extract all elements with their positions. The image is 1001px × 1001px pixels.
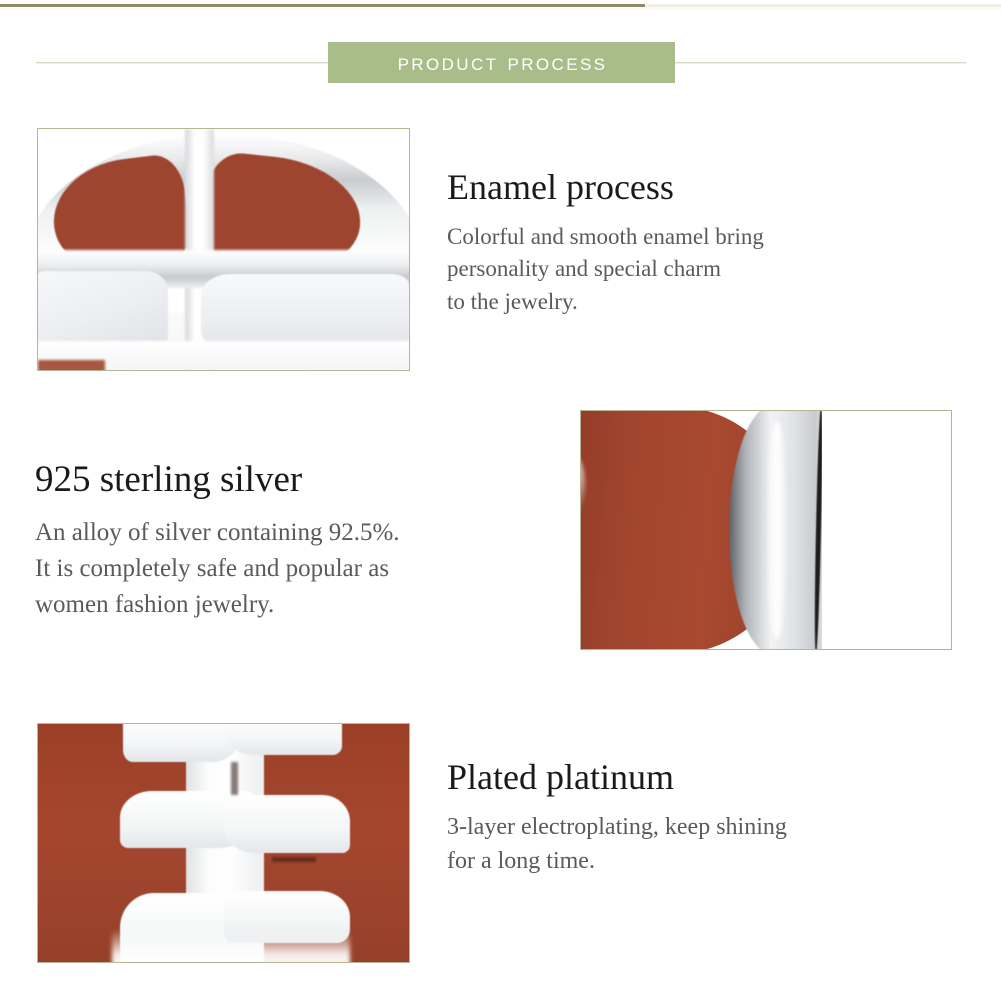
sterling-silver-text: 925 sterling silver An alloy of silver c… [35, 460, 400, 623]
platinum-arm-middle-right [224, 795, 350, 852]
sterling-silver-body-line-1: An alloy of silver containing 92.5%. [35, 515, 400, 551]
top-rule-faint [0, 7, 1001, 9]
sterling-silver-image [580, 410, 952, 650]
plated-platinum-text: Plated platinum 3-layer electroplating, … [447, 758, 787, 879]
banner-title: Product process [396, 51, 608, 75]
sterling-silver-body-line-3: women fashion jewelry. [35, 587, 400, 623]
plated-platinum-image [37, 723, 410, 963]
platinum-arm-upper-right [224, 723, 343, 755]
silver-photo-canvas [581, 411, 951, 649]
sterling-silver-body-line-2: It is completely safe and popular as [35, 551, 400, 587]
plated-platinum-body-line-2: for a long time. [447, 844, 787, 879]
banner-chip: Product process [328, 42, 675, 83]
plated-platinum-body-line-1: 3-layer electroplating, keep shining [447, 810, 787, 845]
white-backdrop [822, 411, 952, 649]
white-pad-left [37, 271, 168, 348]
plated-platinum-heading: Plated platinum [447, 758, 787, 798]
bottom-rule [37, 962, 410, 963]
platinum-photo-canvas [38, 724, 409, 962]
sterling-silver-heading: 925 sterling silver [35, 460, 400, 501]
enamel-process-heading: Enamel process [447, 168, 764, 208]
platinum-shadow-lower [272, 857, 317, 862]
enamel-photo-canvas [38, 129, 409, 370]
section-banner: Product process [0, 42, 1001, 84]
enamel-process-body-line-1: Colorful and smooth enamel bring [447, 221, 764, 254]
enamel-process-body-line-3: to the jewelry. [447, 286, 764, 319]
enamel-process-text: Enamel process Colorful and smooth ename… [447, 168, 764, 319]
enamel-foot-accent [38, 360, 105, 371]
enamel-process-image [37, 128, 410, 371]
product-process-page: Product process Enamel process Colorful … [0, 0, 1001, 1001]
white-pad-right [201, 274, 409, 346]
enamel-process-body-line-2: personality and special charm [447, 253, 764, 286]
platinum-shadow-upper [231, 762, 238, 795]
platinum-bottom-glow [112, 929, 349, 963]
